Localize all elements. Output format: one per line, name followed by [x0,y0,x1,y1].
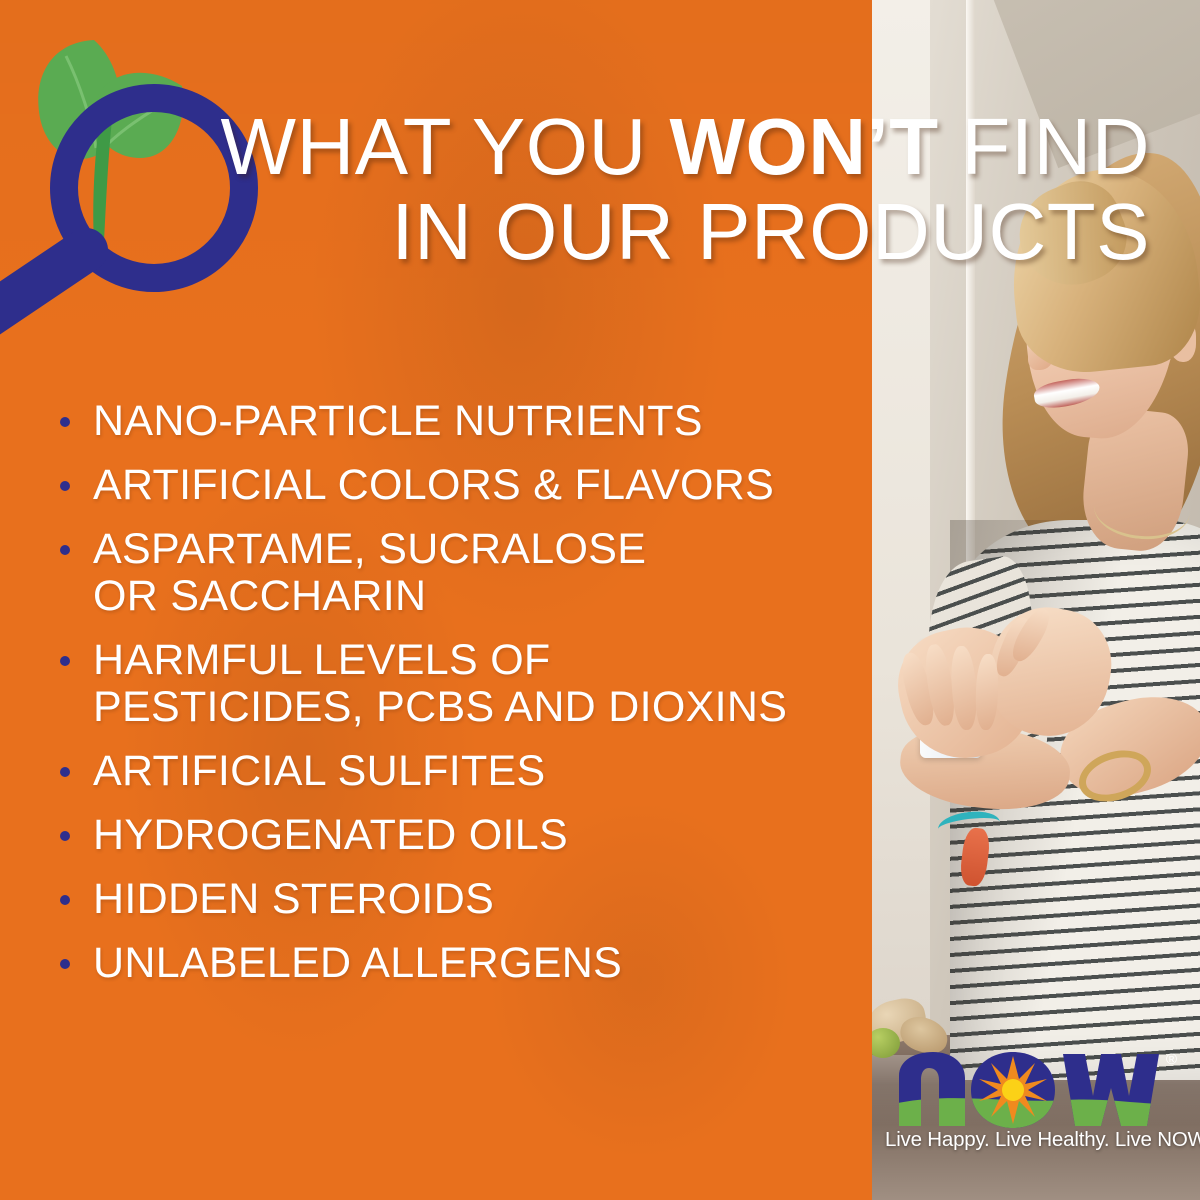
page-title: WHAT YOU WON’T FIND IN OUR PRODUCTS [0,104,1172,274]
bullet-dot-icon [60,767,70,777]
list-item-label: HIDDEN STEROIDS [93,876,494,923]
bullet-dot-icon [60,481,70,491]
bullet-dot-icon [60,959,70,969]
registered-trademark-symbol: ® [1166,1052,1177,1067]
list-item-label: HARMFUL LEVELS OFPESTICIDES, PCBS AND DI… [93,637,787,731]
bullet-dot-icon [60,656,70,666]
list-item: ARTIFICIAL COLORS & FLAVORS [60,462,870,509]
bullet-dot-icon [60,545,70,555]
title-line1-part1: WHAT YOU [221,102,670,191]
list-item-label: ARTIFICIAL SULFITES [93,748,546,795]
list-item: HIDDEN STEROIDS [60,876,870,923]
list-item-label: UNLABELED ALLERGENS [93,940,622,987]
list-item-label: NANO-PARTICLE NUTRIENTS [93,398,703,445]
list-item-label: HYDROGENATED OILS [93,812,568,859]
list-item: ARTIFICIAL SULFITES [60,748,870,795]
title-line1-highlight: WON’T [670,102,939,191]
promo-graphic: WHAT YOU WON’T FIND IN OUR PRODUCTS NANO… [0,0,1200,1200]
brand-tagline: Live Happy. Live Healthy. Live NOW. [885,1128,1185,1152]
list-item: ASPARTAME, SUCRALOSEOR SACCHARIN [60,526,870,620]
list-item-label: ARTIFICIAL COLORS & FLAVORS [93,462,774,509]
now-logo: ® [885,1050,1185,1170]
list-item: HYDROGENATED OILS [60,812,870,859]
bullet-dot-icon [60,417,70,427]
list-item: HARMFUL LEVELS OFPESTICIDES, PCBS AND DI… [60,637,870,731]
list-item: UNLABELED ALLERGENS [60,940,870,987]
title-line2: IN OUR PRODUCTS [0,189,1150,274]
list-item-label: ASPARTAME, SUCRALOSEOR SACCHARIN [93,526,646,620]
bullet-dot-icon [60,895,70,905]
excluded-ingredients-list: NANO-PARTICLE NUTRIENTS ARTIFICIAL COLOR… [60,398,870,1004]
title-line1-part2: FIND [939,102,1150,191]
list-item: NANO-PARTICLE NUTRIENTS [60,398,870,445]
bullet-dot-icon [60,831,70,841]
